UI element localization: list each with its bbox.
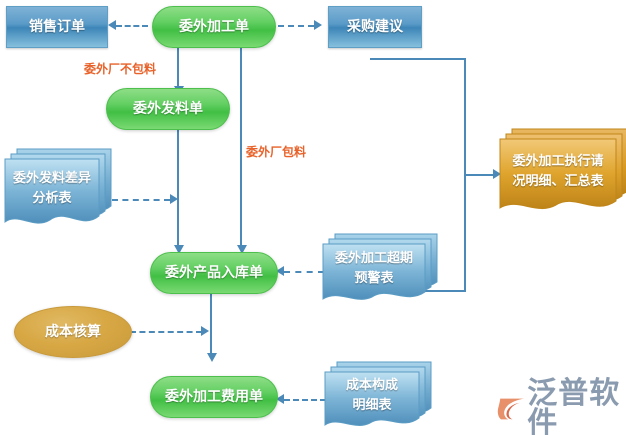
node-issue-variance-report-line1: 委外发料差异 <box>13 169 91 189</box>
node-execution-report-line1: 委外加工执行请 <box>512 152 603 172</box>
node-sales-order-label: 销售订单 <box>29 18 85 37</box>
edge-arrow-sales-order <box>108 20 116 30</box>
edge-arrow-purchase-suggestion <box>314 20 322 30</box>
node-outsourcing-issue[interactable]: 委外发料单 <box>106 88 230 130</box>
node-execution-report-label: 委外加工执行请 况明细、汇总表 <box>499 138 617 216</box>
node-overdue-alert-report[interactable]: 委外加工超期 预警表 <box>322 243 426 305</box>
flowchart-canvas: 委外厂不包料 委外厂包料 销售订单 委外加工单 采购建议 委外发料单 <box>0 0 626 435</box>
node-issue-variance-report[interactable]: 委外发料差异 分析表 <box>4 158 100 230</box>
edge-cost-structure-to-fee <box>284 399 326 401</box>
node-product-receipt-label: 委外产品入库单 <box>165 264 263 283</box>
node-overdue-alert-report-label: 委外加工超期 预警表 <box>322 243 426 305</box>
node-issue-variance-report-line2: 分析表 <box>32 189 71 209</box>
node-overdue-alert-report-line2: 预警表 <box>354 269 393 289</box>
node-execution-report[interactable]: 委外加工执行请 况明细、汇总表 <box>499 138 617 216</box>
edge-label-no-material-supplied: 委外厂不包料 <box>84 60 156 77</box>
node-cost-structure-report[interactable]: 成本构成 明细表 <box>324 371 420 431</box>
edge-arrow-cost-accounting <box>201 326 209 336</box>
node-purchase-suggestion-label: 采购建议 <box>347 18 403 37</box>
node-execution-report-line2: 况明细、汇总表 <box>512 172 603 192</box>
edge-product-receipt-to-fee <box>210 292 212 355</box>
node-cost-structure-report-line2: 明细表 <box>352 396 391 416</box>
fanpu-swoosh-icon <box>497 392 527 426</box>
node-cost-accounting[interactable]: 成本核算 <box>14 306 132 358</box>
node-overdue-alert-report-line1: 委外加工超期 <box>335 249 413 269</box>
edge-outsourcing-order-to-product-receipt <box>240 46 242 247</box>
node-outsourcing-order[interactable]: 委外加工单 <box>152 6 276 48</box>
logo-row: 泛普软件 <box>497 379 626 435</box>
edge-outsourcing-order-to-sales-order <box>116 25 148 27</box>
fanpu-logo: 泛普软件 www.fanpusoft.com <box>497 379 626 435</box>
edge-outsourcing-order-to-purchase-suggestion <box>278 25 314 27</box>
edge-cost-accounting-to-fee <box>130 331 202 333</box>
node-outsourcing-issue-label: 委外发料单 <box>133 100 203 119</box>
edge-variance-to-product-receipt <box>112 199 170 201</box>
edge-label-material-supplied: 委外厂包料 <box>246 143 306 160</box>
node-outsourcing-fee-label: 委外加工费用单 <box>165 388 263 407</box>
node-outsourcing-order-label: 委外加工单 <box>179 18 249 37</box>
node-sales-order[interactable]: 销售订单 <box>6 6 108 48</box>
edge-purchase-suggestion-bus-top <box>370 58 466 60</box>
node-cost-accounting-label: 成本核算 <box>45 323 101 342</box>
logo-wordmark: 泛普软件 <box>527 379 626 435</box>
edge-arrow-variance <box>170 194 178 204</box>
node-issue-variance-report-label: 委外发料差异 分析表 <box>4 158 100 230</box>
edge-issue-to-product-receipt <box>177 128 179 247</box>
node-cost-structure-report-label: 成本构成 明细表 <box>324 371 420 431</box>
node-product-receipt[interactable]: 委外产品入库单 <box>150 252 278 294</box>
edge-overdue-to-product-receipt <box>284 271 324 273</box>
edge-outsourcing-order-to-issue <box>177 46 179 88</box>
edge-arrow-fee <box>207 353 217 362</box>
node-cost-structure-report-line1: 成本构成 <box>346 376 398 396</box>
edge-bus-to-execution-report <box>464 174 494 176</box>
node-outsourcing-fee[interactable]: 委外加工费用单 <box>150 376 278 418</box>
node-purchase-suggestion[interactable]: 采购建议 <box>328 6 422 48</box>
